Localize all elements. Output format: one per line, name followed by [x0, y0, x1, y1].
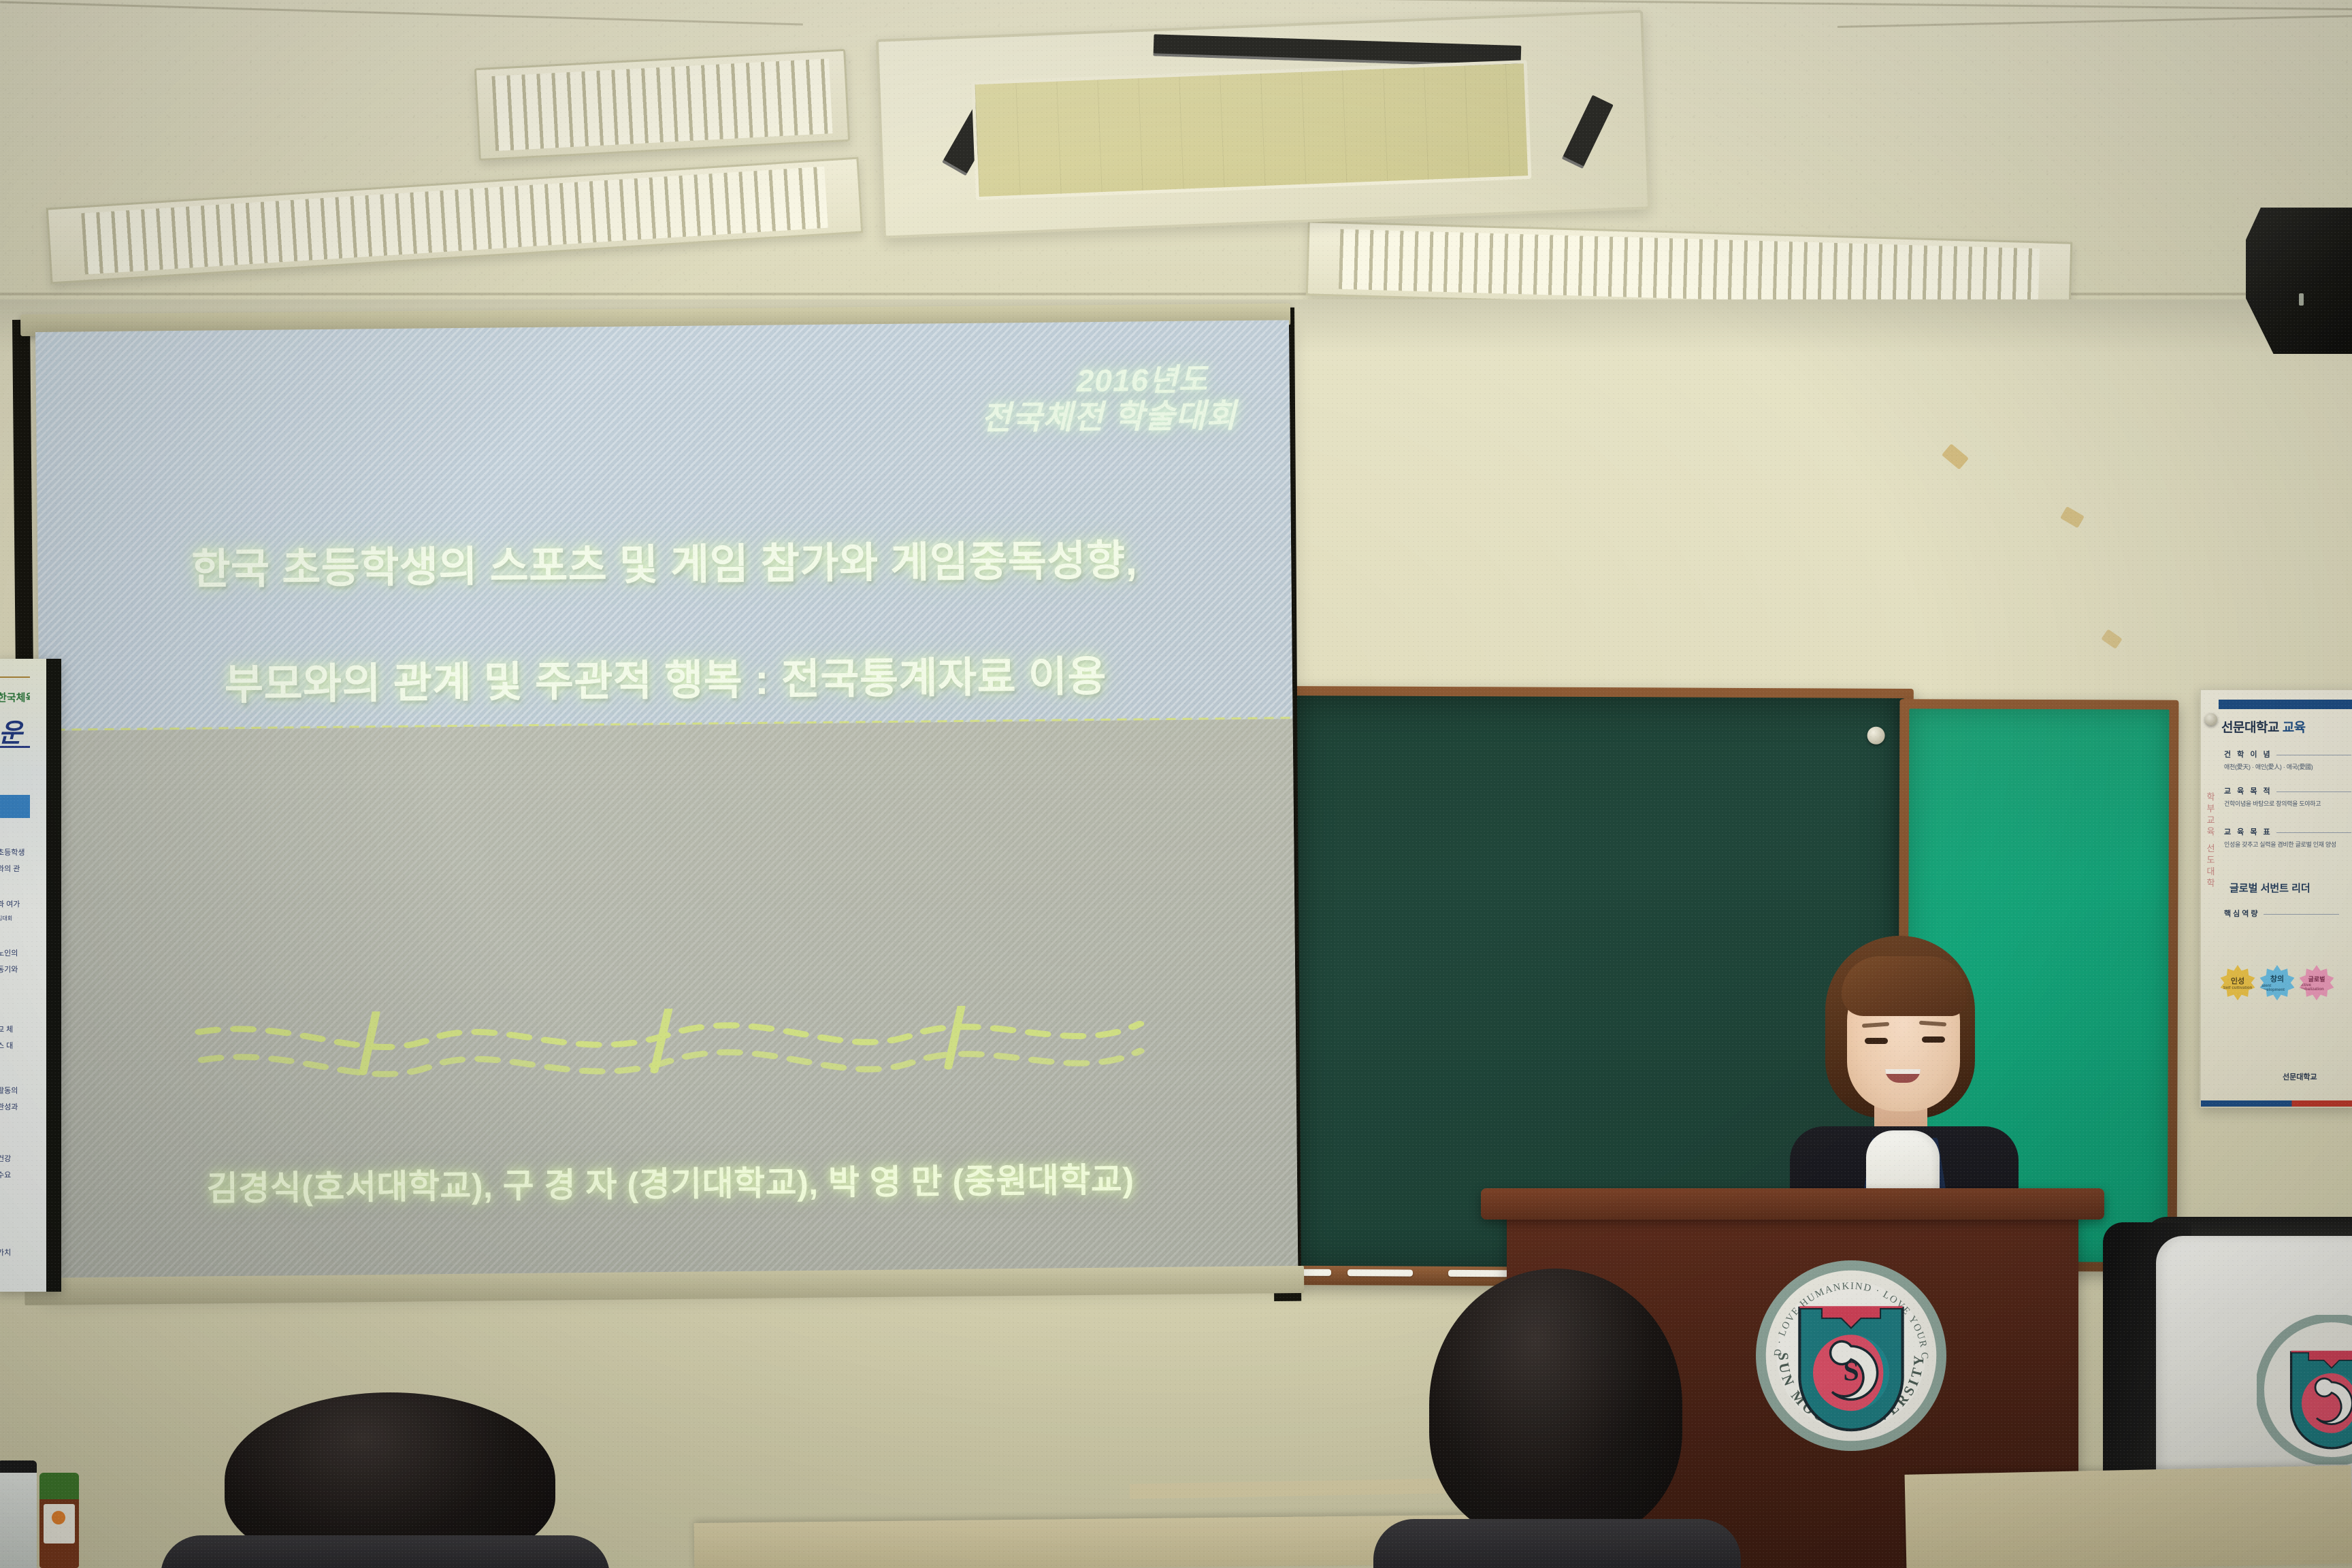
poster-section: 교 육 목 적 건학이념을 바탕으로 창의력을 도야하고 [2224, 785, 2352, 808]
slide-title-line-2: 부모와의 관계 및 주관적 행복 : 전국통계자료 이용 [39, 640, 1293, 713]
poster-section: 건 학 이 념 애천(愛天) · 애인(愛人) · 애국(愛國) [2224, 749, 2352, 771]
poster-section-body: 인성을 갖추고 실력을 겸비한 글로벌 인재 양성 [2224, 840, 2352, 849]
slide-title-line-1: 한국 초등학생의 스포츠 및 게임 참가와 게임중독성향, [37, 524, 1292, 598]
poster-section-heading: 교 육 목 적 [2224, 785, 2352, 796]
poster-side-text: 학부교육 선도대학 [2204, 792, 2217, 890]
poster-badge: 글로벌 Active globalization [2299, 965, 2334, 1000]
notice-row: 김대회 [0, 915, 30, 922]
poster-section-heading: 건 학 이 념 [2224, 749, 2352, 759]
water-bottle [0, 1460, 37, 1568]
poster-badge-label: 글로벌 [2308, 975, 2325, 983]
left-notice-board: 한국체육 운 초등학생 와의 관 과 여가 김대회 노인의 동기와 교 체 스 … [0, 659, 61, 1292]
poster-top-bar [2219, 700, 2352, 709]
emblem-letter: S [1843, 1356, 1859, 1387]
poster-bottom-stripe [2201, 1100, 2352, 1107]
poster-badge-sub: Talent development [2259, 984, 2295, 992]
audience-shoulders [1373, 1519, 1741, 1568]
notice-row: 수요 [0, 1169, 30, 1180]
poster-badge-label: 창의 [2270, 973, 2284, 984]
poster-badge-label: 인성 [2231, 975, 2244, 986]
ceiling-light-fixture [474, 49, 850, 161]
notice-row: 초등학생 [0, 847, 30, 857]
poster-title-accent: 교육 [2283, 721, 2306, 735]
notice-row: 와의 관 [0, 863, 30, 874]
notice-row: 과 여가 [0, 898, 30, 909]
podium-top-ledge [1481, 1188, 2104, 1220]
poster-competency-heading: 핵심역량 [2224, 908, 2352, 919]
notice-row: 동기와 [0, 964, 30, 975]
university-education-poster: 선문대학교 교육 건 학 이 념 애천(愛天) · 애인(愛人) · 애국(愛國… [2200, 689, 2352, 1108]
audience-desk [694, 1515, 1471, 1568]
sun-moon-university-emblem: LOVE GOD · LOVE HUMANKIND · LOVE YOUR CO… [1756, 1260, 1946, 1451]
ceiling-cassette-air-conditioner [876, 10, 1650, 238]
poster-badge: 창의 Talent development [2259, 965, 2295, 1000]
notice-script-mark: 운 [0, 712, 22, 749]
notice-heading: 한국체육 [0, 690, 30, 704]
notice-row: 스 대 [0, 1040, 30, 1051]
presenter-bangs [1842, 956, 1967, 1016]
speaker-led [2299, 293, 2304, 306]
poster-footer: 선문대학교 [2283, 1071, 2317, 1082]
conference-year: 2016년도 [1077, 360, 1209, 399]
notice-row: 활동의 [0, 1085, 30, 1096]
audience-shoulders [161, 1535, 610, 1568]
notice-row: 노인의 [0, 947, 30, 958]
poster-badge: 인성 Self cultivation [2220, 965, 2255, 1000]
poster-badge-sub: Self cultivation [2223, 986, 2253, 990]
poster-section-body: 애천(愛天) · 애인(愛人) · 애국(愛國) [2224, 762, 2352, 771]
poster-title: 선문대학교 교육 [2221, 717, 2352, 736]
projection-screen: 2016년도 전국체전 학술대회 한국 초등학생의 스포츠 및 게임 참가와 게… [35, 320, 1298, 1293]
presenter-eye [1865, 1038, 1888, 1044]
poster-section: 교 육 목 표 인성을 갖추고 실력을 겸비한 글로벌 인재 양성 [2224, 826, 2352, 849]
audience-head [1429, 1269, 1682, 1541]
fruit-icon [52, 1511, 65, 1524]
presenter [1765, 936, 2051, 1228]
notice-row: 관성과 [0, 1101, 30, 1112]
presenter-eye [1922, 1036, 1945, 1043]
board-knob [1867, 727, 1885, 745]
conference-name: 전국체전 학술대회 [981, 397, 1237, 439]
notice-row: 가치 [0, 1247, 30, 1258]
poster-pin-icon [2205, 713, 2217, 725]
poster-title-main: 선문대학교 [2221, 721, 2279, 735]
poster-badge-sub: Active globalization [2299, 983, 2334, 992]
photo-scene: 2016년도 전국체전 학술대회 한국 초등학생의 스포츠 및 게임 참가와 게… [0, 0, 2352, 1568]
poster-badge-row: 인성 Self cultivation 창의 Talent developmen… [2220, 965, 2352, 1000]
notice-row: 교 체 [0, 1024, 30, 1034]
juice-bottle [39, 1473, 79, 1568]
wave-ornament-icon [193, 1004, 1146, 1088]
notice-row: 건강 [0, 1153, 30, 1164]
poster-section-heading: 교 육 목 표 [2224, 826, 2352, 837]
chalk-piece [1347, 1269, 1413, 1277]
poster-section-body: 건학이념을 바탕으로 창의력을 도야하고 [2224, 799, 2352, 808]
poster-subtitle: 글로벌 서번트 리더 [2229, 881, 2352, 895]
